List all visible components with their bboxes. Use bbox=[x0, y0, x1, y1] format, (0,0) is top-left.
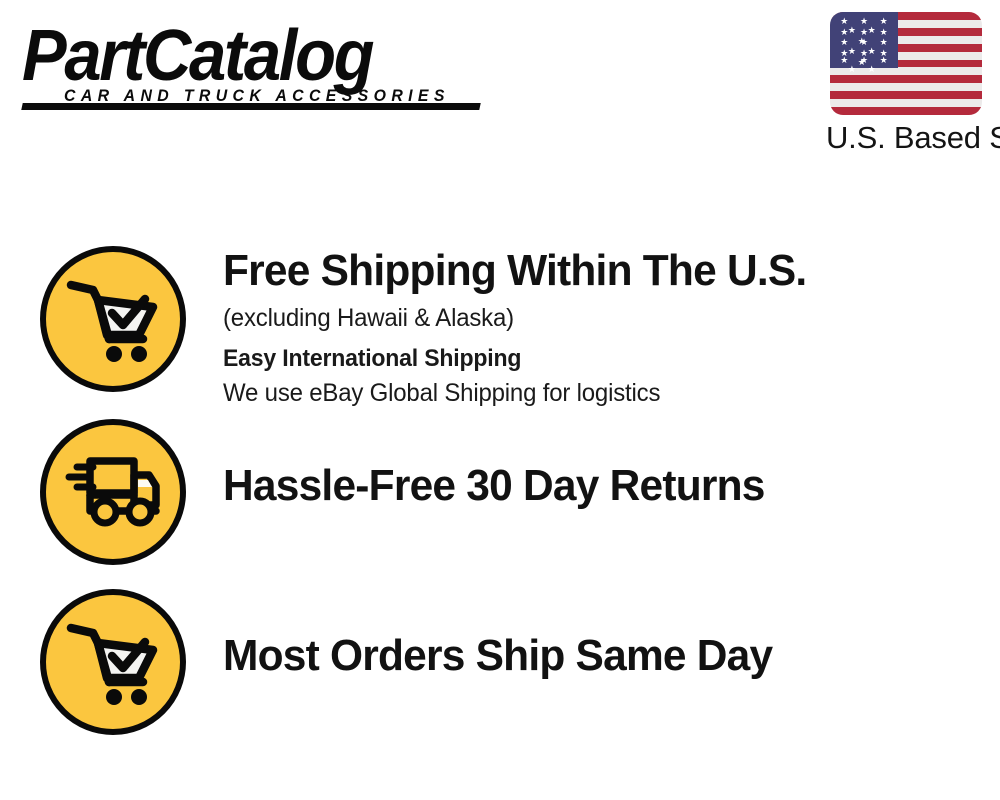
brand-logo: PartCatalog CAR AND TRUCK ACCESSORIES bbox=[22, 22, 492, 106]
brand-wordmark: PartCatalog bbox=[22, 22, 459, 91]
feature-copy: Most Orders Ship Same Day bbox=[186, 589, 990, 681]
feature-copy: Hassle-Free 30 Day Returns bbox=[186, 419, 990, 511]
delivery-truck-icon-badge bbox=[40, 419, 186, 565]
feature-item: Free Shipping Within The U.S. (excluding… bbox=[40, 246, 990, 410]
delivery-truck-icon bbox=[65, 455, 161, 529]
us-based-seller-badge: ★ ★ ★ ★ ★ ★ ★ ★ ★ ★ ★ ★ ★ ★ ★ ★ ★ ★ ★ ★ … bbox=[826, 12, 986, 155]
feature-item: Hassle-Free 30 Day Returns bbox=[40, 419, 990, 565]
feature-headline: Hassle-Free 30 Day Returns bbox=[223, 461, 963, 511]
brand-underline-swash bbox=[21, 103, 480, 110]
feature-headline: Free Shipping Within The U.S. bbox=[223, 246, 963, 296]
feature-copy: Free Shipping Within The U.S. (excluding… bbox=[186, 246, 990, 410]
shopping-cart-check-icon bbox=[65, 618, 161, 706]
feature-subline: (excluding Hawaii & Alaska) bbox=[223, 301, 959, 335]
us-based-seller-label: U.S. Based Seller bbox=[826, 121, 992, 155]
shopping-cart-check-icon bbox=[65, 275, 161, 363]
feature-headline: Most Orders Ship Same Day bbox=[223, 631, 963, 681]
shopping-cart-check-icon-badge bbox=[40, 589, 186, 735]
feature-item: Most Orders Ship Same Day bbox=[40, 589, 990, 735]
shopping-cart-check-icon-badge bbox=[40, 246, 186, 392]
us-flag-icon: ★ ★ ★ ★ ★ ★ ★ ★ ★ ★ ★ ★ ★ ★ ★ ★ ★ ★ ★ ★ … bbox=[830, 12, 982, 115]
feature-subline: We use eBay Global Shipping for logistic… bbox=[223, 376, 959, 410]
flag-star-row: ★ ★ ★ ★ ★ bbox=[830, 57, 898, 75]
header-banner: PartCatalog CAR AND TRUCK ACCESSORIES ★ … bbox=[0, 0, 1000, 175]
feature-subline-bold: Easy International Shipping bbox=[223, 342, 959, 376]
